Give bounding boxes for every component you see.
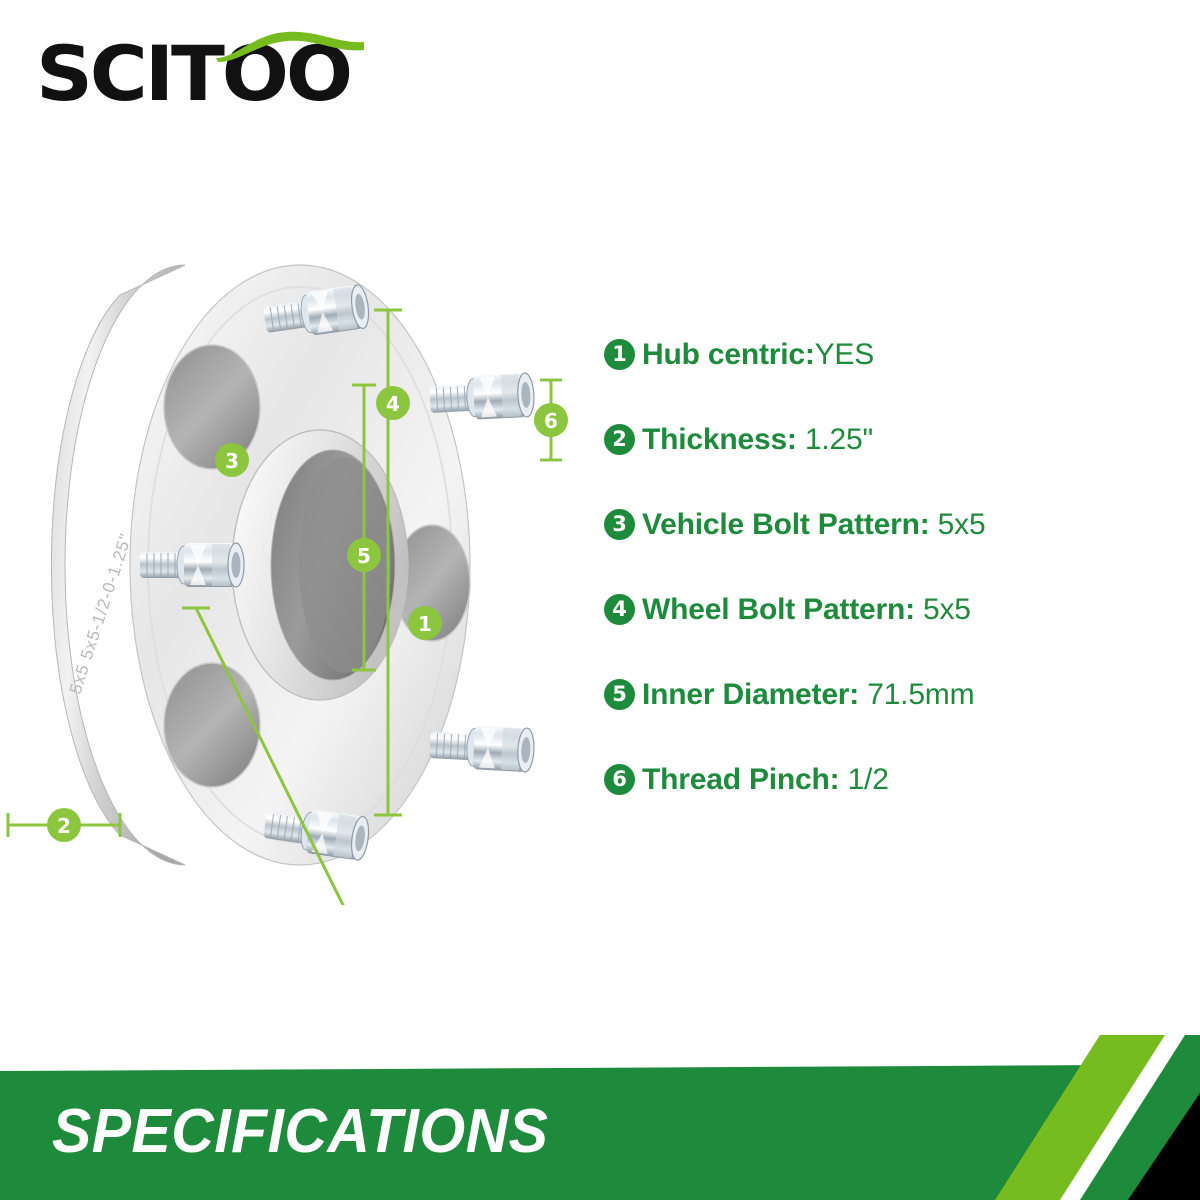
svg-text:5: 5 [357, 544, 371, 568]
spec-label-4: Wheel Bolt Pattern: [642, 593, 915, 627]
spec-number-badge-4: 4 [604, 594, 635, 625]
callout-marker-5: 5 [347, 538, 381, 572]
callout-marker-4: 4 [376, 386, 410, 420]
svg-text:1: 1 [418, 612, 432, 636]
spec-row-2: 2 Thickness: 1.25" [604, 397, 1164, 482]
car-swoosh-icon [214, 28, 366, 62]
spec-value-4: 5x5 [915, 593, 971, 627]
svg-text:4: 4 [386, 392, 400, 416]
spec-label-5: Inner Diameter: [642, 678, 859, 712]
spec-label-6: Thread Pinch: [642, 763, 839, 797]
svg-text:2: 2 [57, 814, 71, 838]
callout-marker-6: 6 [534, 403, 568, 437]
spec-row-6: 6 Thread Pinch: 1/2 [604, 737, 1164, 822]
center-hub-bore [232, 430, 408, 700]
svg-text:6: 6 [544, 409, 558, 433]
callout-marker-1: 1 [408, 606, 442, 640]
spec-label-3: Vehicle Bolt Pattern: [642, 508, 930, 542]
product-image-wheel-spacer: 5x5 5x5-1/2-0-1.25" [0, 225, 600, 905]
callout-marker-2: 2 [47, 808, 81, 842]
spec-label-2: Thickness: [642, 423, 797, 457]
spec-number-badge-3: 3 [604, 509, 635, 540]
banner-title: SPECIFICATIONS [52, 1096, 548, 1167]
spec-value-6: 1/2 [839, 763, 888, 797]
spec-row-3: 3 Vehicle Bolt Pattern: 5x5 [604, 482, 1164, 567]
spec-row-4: 4 Wheel Bolt Pattern: 5x5 [604, 567, 1164, 652]
spec-number-badge-5: 5 [604, 679, 635, 710]
spec-value-5: 71.5mm [859, 678, 974, 712]
spec-label-1: Hub centric: [642, 338, 815, 372]
spec-row-5: 5 Inner Diameter: 71.5mm [604, 652, 1164, 737]
spec-number-badge-2: 2 [604, 424, 635, 455]
specifications-list: 1 Hub centric: YES 2 Thickness: 1.25" 3 … [604, 312, 1164, 822]
spec-value-3: 5x5 [930, 508, 986, 542]
spacer-engraving: 5x5 5x5-1/2-0-1.25" [66, 531, 136, 696]
brand-logo: SCITOO [36, 22, 366, 114]
svg-text:3: 3 [225, 449, 239, 473]
spec-row-1: 1 Hub centric: YES [604, 312, 1164, 397]
spec-value-1: YES [815, 338, 874, 372]
callout-marker-3: 3 [215, 443, 249, 477]
spec-number-badge-1: 1 [604, 339, 635, 370]
spec-number-badge-6: 6 [604, 764, 635, 795]
spec-value-2: 1.25" [797, 423, 873, 457]
